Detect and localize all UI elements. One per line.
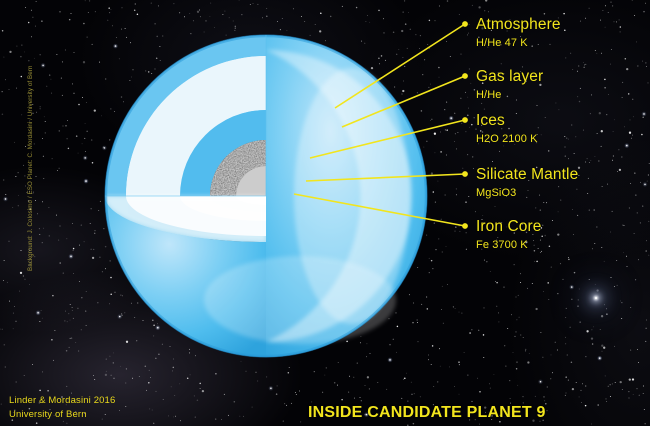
label-atmosphere-title: Atmosphere: [476, 17, 561, 33]
label-gas-layer-sub: H/He: [476, 90, 543, 101]
label-silicate-mantle-title: Silicate Mantle: [476, 167, 578, 183]
planet-illustration: AtmosphereH/He 47 KGas layerH/HeIcesH2O …: [0, 0, 650, 426]
label-atmosphere-sub: H/He 47 K: [476, 38, 561, 49]
label-silicate-mantle-sub: MgSiO3: [476, 188, 578, 199]
label-iron-core-title: Iron Core: [476, 219, 542, 235]
page-title: INSIDE CANDIDATE PLANET 9: [308, 404, 546, 422]
cut-wall-left: [105, 35, 266, 196]
label-ices-sub: H2O 2100 K: [476, 134, 538, 145]
credits-block: Linder & Mordasini 2016 University of Be…: [9, 394, 115, 421]
vertical-credit: Background: J. Colosimo / ESO Planet: C.…: [27, 96, 34, 271]
label-gas-layer: Gas layerH/He: [476, 69, 543, 101]
label-ices-title: Ices: [476, 113, 538, 129]
credit-line-2: University of Bern: [9, 408, 115, 422]
label-atmosphere: AtmosphereH/He 47 K: [476, 17, 561, 49]
label-leader-dots: [462, 21, 468, 229]
label-gas-layer-title: Gas layer: [476, 69, 543, 85]
planet-cutaway-diagram: [0, 0, 650, 426]
credit-line-1: Linder & Mordasini 2016: [9, 394, 115, 408]
label-silicate-mantle: Silicate MantleMgSiO3: [476, 167, 578, 199]
label-iron-core: Iron CoreFe 3700 K: [476, 219, 542, 251]
label-iron-core-sub: Fe 3700 K: [476, 240, 542, 251]
label-ices: IcesH2O 2100 K: [476, 113, 538, 145]
